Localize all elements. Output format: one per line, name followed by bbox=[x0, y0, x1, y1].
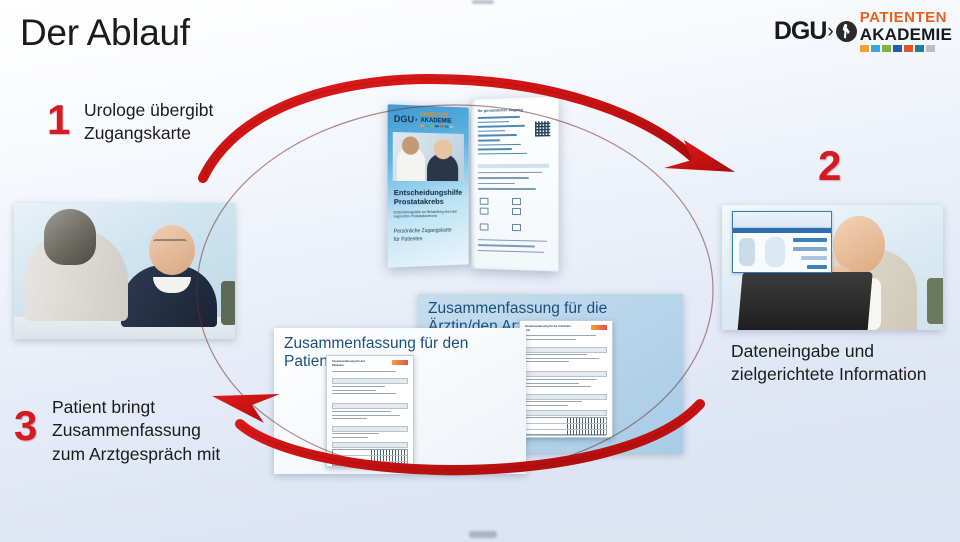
brochure-access-card-label: Persönliche Zugangskarte für Patienten bbox=[394, 227, 463, 244]
laptop-photo-screen-overlay bbox=[732, 211, 832, 273]
patient-sheet-text-4 bbox=[332, 433, 408, 440]
logo-color-swatches bbox=[860, 45, 952, 52]
doctor-summary-sheet: Zusammenfassung für die Ärztin/den Arzt bbox=[519, 320, 613, 438]
logo-swatch bbox=[871, 45, 880, 52]
brochure-logo-chevron-icon: › bbox=[415, 116, 417, 123]
dgu-wordmark: DGU bbox=[774, 19, 827, 44]
patient-sheet-header: Zusammenfassung für den Patienten bbox=[332, 360, 408, 368]
brochure-logo-swatch bbox=[445, 126, 449, 128]
screen-overlay-button-4 bbox=[807, 265, 827, 269]
consult-photo-chair bbox=[221, 281, 235, 325]
brochure-checkbox-3 bbox=[480, 208, 489, 215]
patient-sheet-section-4 bbox=[332, 442, 408, 448]
brochure-logo-akademie: AKADEMIE bbox=[420, 118, 453, 125]
logo-swatch bbox=[915, 45, 924, 52]
doctor-patient-consultation-photo bbox=[14, 203, 235, 339]
brochure-access-card: Ihr persönlicher Zugang bbox=[388, 98, 560, 273]
logo-swatch bbox=[893, 45, 902, 52]
brochure-inner-page: Ihr persönlicher Zugang bbox=[471, 96, 558, 271]
brochure-inner-form-lines bbox=[478, 172, 551, 194]
doctor-sheet-title: Zusammenfassung für die Ärztin/den Arzt bbox=[525, 325, 573, 333]
brochure-logo-swatch bbox=[425, 125, 429, 127]
qr-code-icon bbox=[535, 121, 550, 137]
brochure-logo-swatch bbox=[420, 125, 424, 127]
brochure-front-cover: DGU › PATIENTEN AKADEMIE Entscheidungshi… bbox=[388, 104, 469, 267]
logo-swatch bbox=[882, 45, 891, 52]
screen-overlay-button-2 bbox=[793, 247, 827, 251]
logo-akademie-text: AKADEMIE bbox=[860, 26, 952, 43]
patient-sheet-table bbox=[332, 449, 408, 466]
doctor-sheet-section-3 bbox=[525, 394, 607, 400]
patient-sheet-title: Zusammenfassung für den Patienten bbox=[332, 360, 376, 368]
screen-overlay-body bbox=[733, 233, 831, 273]
table-row bbox=[526, 430, 606, 436]
patient-summary-sheet: Zusammenfassung für den Patienten bbox=[326, 355, 414, 467]
laptop-photo-laptop bbox=[737, 272, 872, 330]
brochure-subtitle: Entscheidungshilfe zur Behandlung des lo… bbox=[394, 209, 465, 219]
brochure-logo-swatch bbox=[440, 125, 444, 127]
top-edge-artifact bbox=[472, 0, 494, 4]
chevron-right-icon: › bbox=[827, 22, 833, 41]
consult-photo-patient-head bbox=[149, 225, 195, 275]
brochure-checkbox-4 bbox=[512, 208, 521, 215]
dgu-emblem-icon bbox=[836, 21, 857, 42]
doctor-sheet-table bbox=[525, 417, 607, 435]
logo-swatch bbox=[904, 45, 913, 52]
brochure-inner-heading: Ihr persönlicher Zugang bbox=[478, 107, 523, 113]
brochure-checkbox-6 bbox=[512, 224, 521, 231]
screen-overlay-header bbox=[733, 212, 831, 228]
laptop-photo-chair bbox=[927, 278, 943, 324]
bottom-edge-artifact bbox=[469, 531, 497, 538]
step-2-line-2: zielgerichtete Information bbox=[731, 363, 927, 386]
patient-sheet-text-3 bbox=[332, 411, 408, 422]
step-2-number: 2 bbox=[818, 145, 841, 187]
brochure-checkbox-1 bbox=[480, 198, 489, 205]
slide-canvas: Der Ablauf DGU › PATIENTEN AKADEMIE 1 2 … bbox=[0, 0, 960, 542]
brochure-logo-dgu: DGU bbox=[394, 114, 414, 125]
brochure-cover-photo bbox=[393, 132, 464, 181]
brochure-cover-doctor-head bbox=[402, 136, 419, 155]
screen-overlay-figure-1 bbox=[739, 238, 755, 266]
patient-at-laptop-photo bbox=[722, 205, 943, 330]
doctor-sheet-section-1 bbox=[525, 347, 607, 353]
dgu-patientenakademie-logo: DGU › PATIENTEN AKADEMIE bbox=[774, 10, 952, 52]
step-1-number: 1 bbox=[47, 99, 70, 141]
doctor-sheet-text-1 bbox=[525, 335, 607, 342]
doctor-sheet-header: Zusammenfassung für die Ärztin/den Arzt bbox=[525, 325, 607, 333]
step-3-line-3: zum Arztgespräch mit bbox=[52, 443, 220, 466]
patient-sheet-text-1 bbox=[332, 371, 408, 375]
brochure-inner-footer-lines bbox=[478, 239, 551, 257]
brochure-title-line-1: Entscheidungshilfe bbox=[394, 188, 465, 198]
logo-patienten-text: PATIENTEN bbox=[860, 10, 952, 25]
brochure-title-block: Entscheidungshilfe Prostatakrebs Entsche… bbox=[394, 188, 465, 219]
brochure-checkbox-5 bbox=[480, 223, 489, 230]
patient-sheet-section-3 bbox=[332, 426, 408, 432]
logo-swatch bbox=[860, 45, 869, 52]
doctor-sheet-text-3 bbox=[525, 379, 607, 390]
screen-overlay-button-3 bbox=[801, 256, 827, 260]
brochure-inner-section-band bbox=[478, 164, 549, 169]
brochure-logo-swatches bbox=[420, 125, 453, 128]
doctor-sheet-text-2 bbox=[525, 354, 607, 365]
logo-swatch bbox=[926, 45, 935, 52]
doctor-sheet-logo-badge bbox=[591, 325, 607, 330]
brochure-inner-text-lines bbox=[478, 115, 537, 157]
step-1-line-1: Urologe übergibt bbox=[84, 99, 213, 122]
brochure-logo-swatch bbox=[430, 125, 434, 127]
doctor-sheet-section-4 bbox=[525, 410, 607, 416]
step-2-line-1: Dateneingabe und bbox=[731, 340, 927, 363]
step-3-number: 3 bbox=[14, 405, 37, 447]
patient-sheet-logo-badge bbox=[392, 360, 408, 365]
page-title: Der Ablauf bbox=[20, 14, 190, 53]
doctor-sheet-text-4 bbox=[525, 401, 607, 408]
patient-sheet-section-1 bbox=[332, 378, 408, 384]
consult-photo-doctor-head bbox=[44, 209, 96, 265]
step-2-label: Dateneingabe und zielgerichtete Informat… bbox=[731, 340, 927, 387]
brochure-card-line-2: für Patienten bbox=[394, 235, 463, 244]
step-1-line-2: Zugangskarte bbox=[84, 122, 213, 145]
step-3-line-1: Patient bringt bbox=[52, 396, 220, 419]
brochure-cover-patient-head bbox=[434, 139, 452, 159]
step-3-line-2: Zusammenfassung bbox=[52, 419, 220, 442]
brochure-title-line-2: Prostatakrebs bbox=[394, 197, 465, 207]
consult-photo-patient-glasses bbox=[153, 239, 187, 247]
patientenakademie-wordmark: PATIENTEN AKADEMIE bbox=[860, 10, 952, 52]
brochure-logo-swatch bbox=[450, 126, 454, 128]
screen-overlay-figure-2 bbox=[765, 237, 785, 267]
doctor-sheet-section-2 bbox=[525, 371, 607, 377]
brochure-checkbox-2 bbox=[512, 198, 521, 205]
step-1-label: Urologe übergibt Zugangskarte bbox=[84, 99, 213, 146]
brochure-logo-swatch bbox=[435, 125, 439, 127]
screen-overlay-button-1 bbox=[793, 238, 827, 242]
patient-sheet-section-2 bbox=[332, 403, 408, 409]
table-row bbox=[333, 462, 407, 467]
patient-sheet-text-2 bbox=[332, 386, 408, 397]
brochure-logo: DGU › PATIENTEN AKADEMIE bbox=[394, 112, 454, 128]
step-3-label: Patient bringt Zusammenfassung zum Arztg… bbox=[52, 396, 220, 466]
